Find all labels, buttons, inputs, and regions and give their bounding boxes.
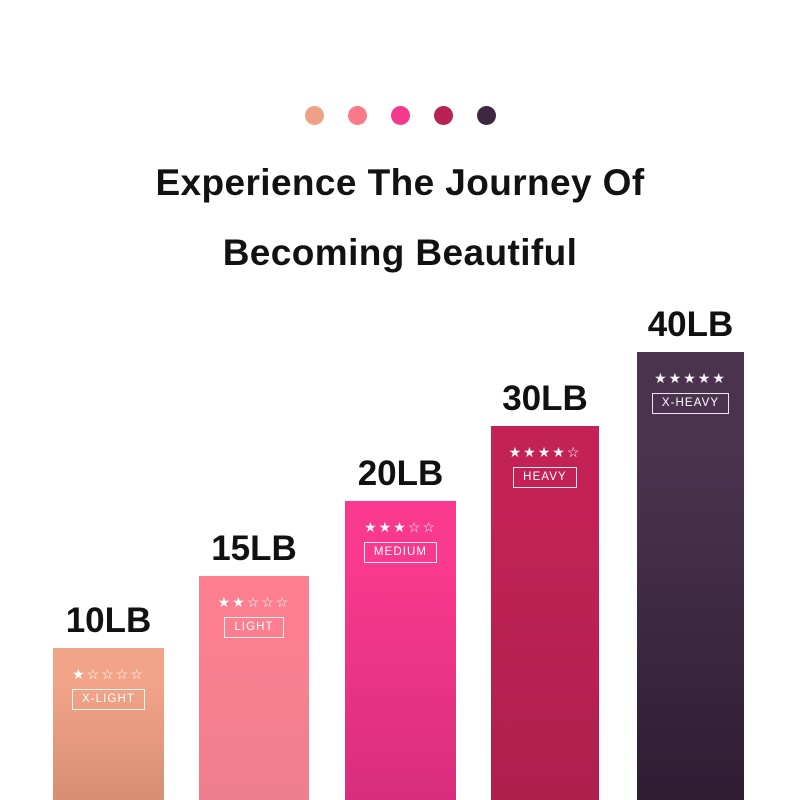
star-rating-icon: ★★★★★: [637, 370, 744, 386]
bar-30lb[interactable]: 30LB★★★★☆HEAVY: [491, 426, 599, 800]
bar-weight-label: 40LB: [637, 304, 744, 352]
tier-badge: MEDIUM: [364, 542, 437, 563]
bar-15lb[interactable]: 15LB★★☆☆☆LIGHT: [199, 576, 309, 800]
tier-badge: HEAVY: [513, 467, 577, 488]
bar-rating-block: ★★☆☆☆LIGHT: [199, 594, 309, 638]
bar-10lb[interactable]: 10LB★☆☆☆☆X-LIGHT: [53, 648, 164, 800]
bar-body: ★★★☆☆MEDIUM: [345, 501, 456, 800]
bar-weight-label: 30LB: [491, 378, 599, 426]
bar-weight-label: 10LB: [53, 600, 164, 648]
star-rating-icon: ★★★★☆: [491, 444, 599, 460]
bar-rating-block: ★★★★★X-HEAVY: [637, 370, 744, 414]
bar-body: ★☆☆☆☆X-LIGHT: [53, 648, 164, 800]
bar-rating-block: ★★★★☆HEAVY: [491, 444, 599, 488]
tier-badge: X-HEAVY: [652, 393, 729, 414]
bar-body: ★★★★☆HEAVY: [491, 426, 599, 800]
bar-40lb[interactable]: 40LB★★★★★X-HEAVY: [637, 352, 744, 800]
bar-20lb[interactable]: 20LB★★★☆☆MEDIUM: [345, 501, 456, 800]
bar-body: ★★☆☆☆LIGHT: [199, 576, 309, 800]
bar-rating-block: ★☆☆☆☆X-LIGHT: [53, 666, 164, 710]
tier-badge: LIGHT: [224, 617, 283, 638]
bar-weight-label: 15LB: [199, 528, 309, 576]
resistance-bar-chart: 10LB★☆☆☆☆X-LIGHT15LB★★☆☆☆LIGHT20LB★★★☆☆M…: [0, 0, 800, 800]
star-rating-icon: ★★☆☆☆: [199, 594, 309, 610]
bar-weight-label: 20LB: [345, 453, 456, 501]
star-rating-icon: ★★★☆☆: [345, 519, 456, 535]
star-rating-icon: ★☆☆☆☆: [53, 666, 164, 682]
tier-badge: X-LIGHT: [72, 689, 145, 710]
bar-rating-block: ★★★☆☆MEDIUM: [345, 519, 456, 563]
poster-canvas: Experience The Journey OfBecoming Beauti…: [0, 0, 800, 800]
bar-fill: [637, 352, 744, 800]
bar-body: ★★★★★X-HEAVY: [637, 352, 744, 800]
